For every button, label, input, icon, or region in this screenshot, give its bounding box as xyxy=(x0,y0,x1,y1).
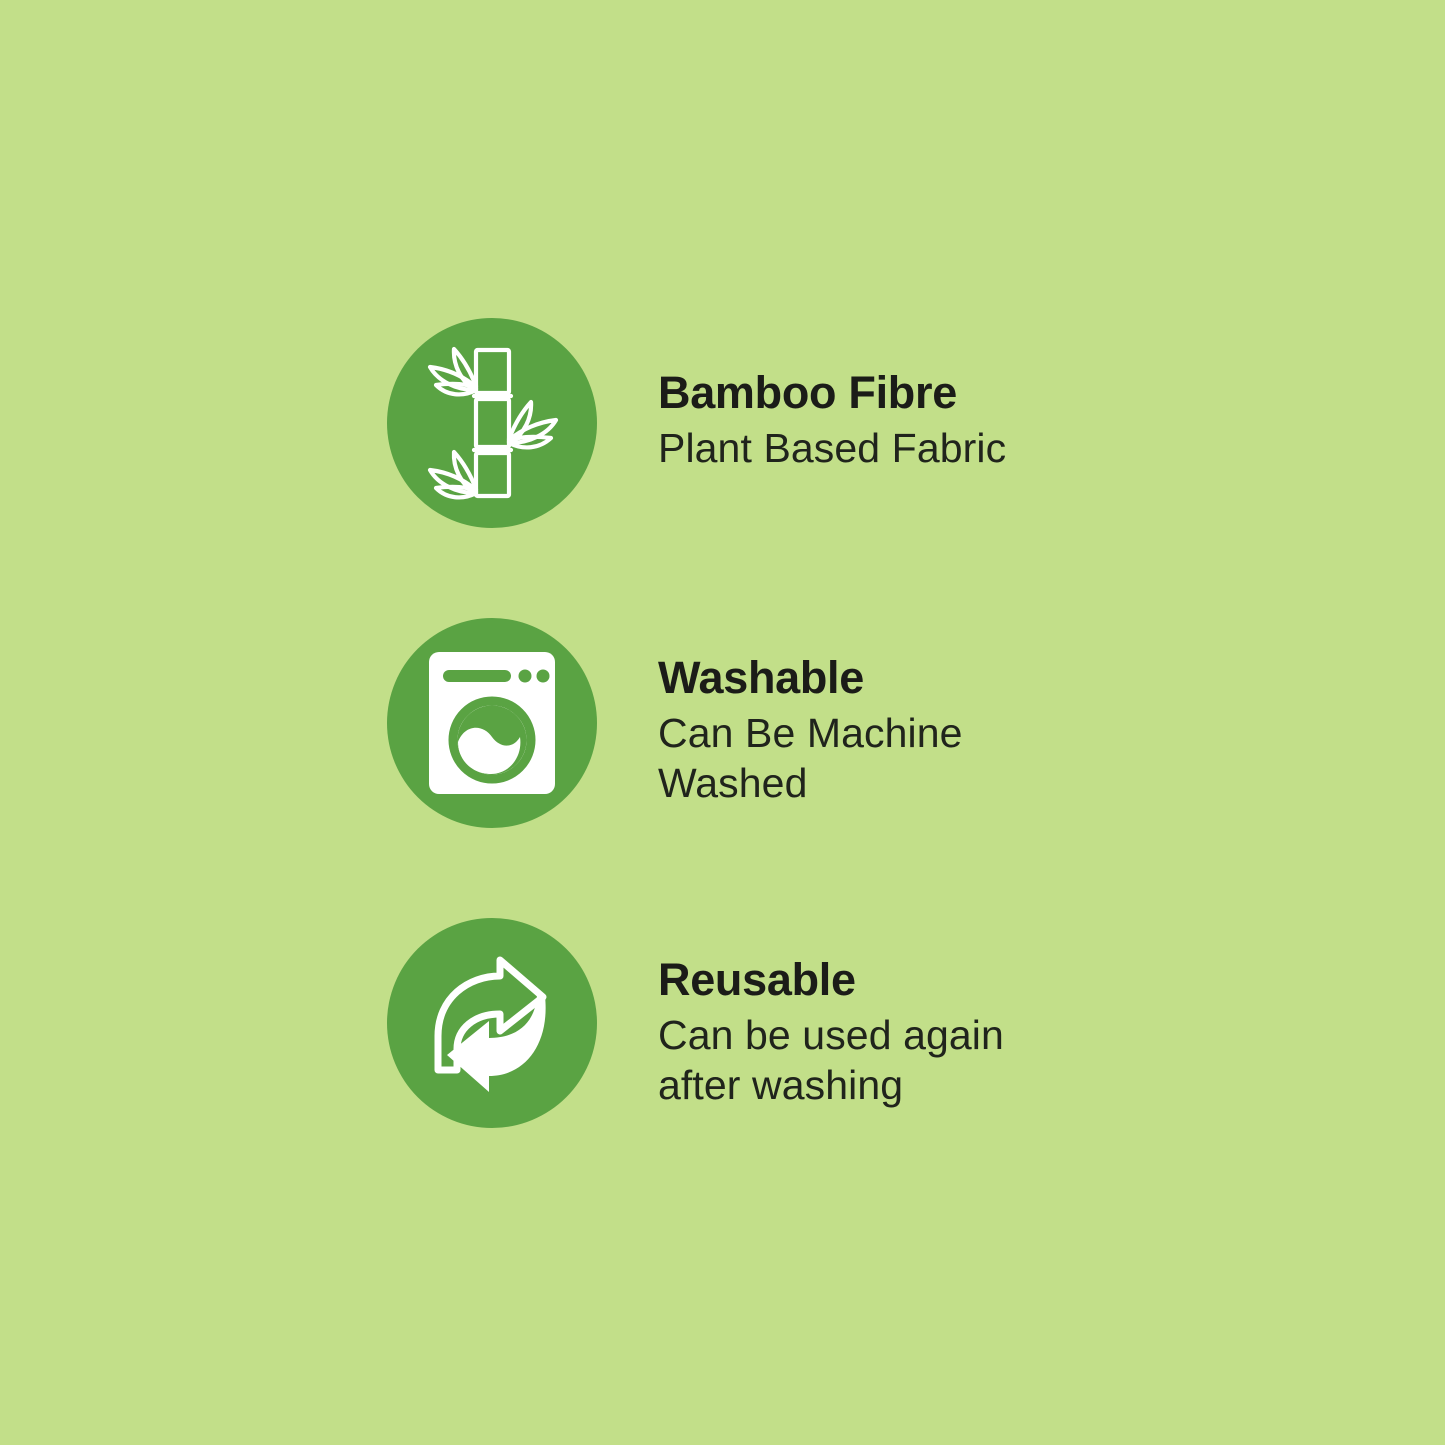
feature-list: Bamboo Fibre Plant Based Fabric xyxy=(387,318,1147,1128)
feature-title: Washable xyxy=(658,654,1147,703)
bamboo-fibre-icon-badge xyxy=(387,318,597,528)
feature-text-bamboo-fibre: Bamboo Fibre Plant Based Fabric xyxy=(597,369,1147,474)
feature-item-washable: Washable Can Be Machine Washed xyxy=(387,618,1147,828)
feature-subtitle: Can be used again after washing xyxy=(658,1010,1088,1110)
feature-subtitle: Can Be Machine Washed xyxy=(658,708,1088,808)
feature-badges-page: Bamboo Fibre Plant Based Fabric xyxy=(0,0,1445,1445)
feature-text-reusable: Reusable Can be used again after washing xyxy=(597,956,1147,1111)
feature-title: Reusable xyxy=(658,956,1147,1005)
feature-item-reusable: Reusable Can be used again after washing xyxy=(387,918,1147,1128)
bamboo-stalk-icon xyxy=(417,343,567,503)
reusable-icon-badge xyxy=(387,918,597,1128)
feature-title: Bamboo Fibre xyxy=(658,369,1147,418)
feature-text-washable: Washable Can Be Machine Washed xyxy=(597,654,1147,809)
feature-item-bamboo-fibre: Bamboo Fibre Plant Based Fabric xyxy=(387,318,1147,528)
feature-subtitle: Plant Based Fabric xyxy=(658,423,1088,473)
washing-machine-icon xyxy=(429,652,555,794)
washable-icon-badge xyxy=(387,618,597,828)
recycle-arrows-icon xyxy=(421,952,563,1094)
